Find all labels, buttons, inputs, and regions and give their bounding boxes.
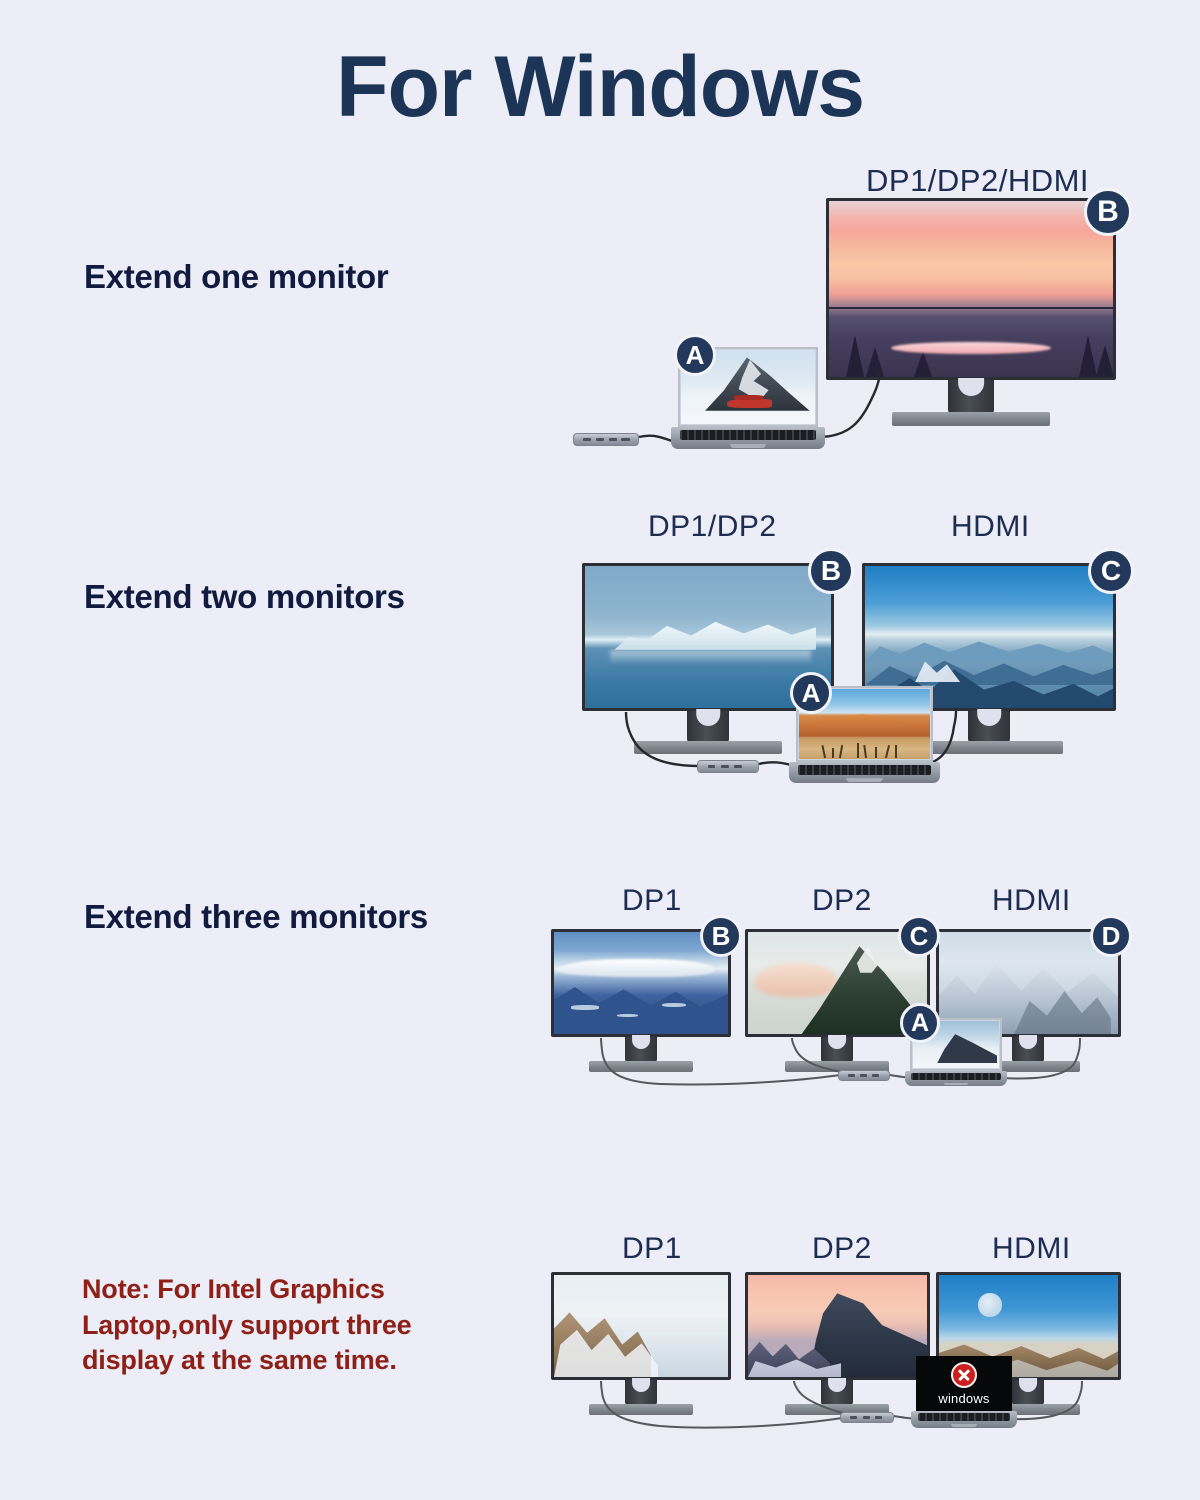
laptop-trackpad-notch [730,444,767,448]
badge-b-section-two: B [808,548,854,594]
badge-b-section-three: B [700,915,742,957]
wallpaper-glacier-valley [554,1275,728,1377]
laptop-deck [911,1411,1017,1428]
monitor-screen [554,1275,728,1377]
monitor-screen [748,1275,927,1377]
wallpaper-pink-sunrise-peak [748,1275,927,1377]
badge-c-section-two: C [1088,548,1134,594]
port-label-hdmi-section-four: HDMI [992,1232,1071,1266]
laptop-keyboard [798,765,931,775]
moon-icon [978,1293,1001,1316]
monitor-neck [625,1037,657,1063]
laptop-lid: windows [916,1356,1012,1411]
laptop-deck [789,762,940,783]
wallpaper-snow-ridge [554,932,728,1034]
monitor-bezel [826,198,1116,380]
monitor-neck [687,711,729,743]
usb-hub-section-two [697,760,759,773]
port-label-dp1-dp2: DP1/DP2 [648,510,777,544]
port-label-dp1-section-four: DP1 [622,1232,682,1266]
monitor-screen [554,932,728,1034]
monitor-bezel [551,1272,731,1380]
badge-a-section-three: A [900,1003,940,1043]
laptop-screen: windows [919,1359,1009,1408]
monitor-base [915,741,1063,754]
badge-a-section-one: A [674,334,716,376]
section-label-extend-two: Extend two monitors [84,578,405,616]
usb-hub-section-one [573,433,639,446]
monitor-base [634,741,782,754]
laptop-trackpad-notch [944,1083,968,1085]
section-label-extend-one: Extend one monitor [84,258,388,296]
badge-c-section-three: C [898,915,940,957]
laptop-deck [905,1071,1006,1086]
laptop-keyboard [911,1073,1000,1080]
wallpaper-sunset-lake [829,201,1113,377]
monitor-base [892,412,1050,426]
laptop-error-section-four: windows [916,1356,1012,1428]
monitor-neck [821,1380,853,1406]
port-label-hdmi-section-three: HDMI [992,884,1071,918]
error-label: windows [938,1391,989,1406]
error-screen: windows [919,1359,1009,1408]
monitor-neck [1012,1037,1044,1063]
monitor-neck [1012,1380,1044,1406]
port-label-dp1-dp2-hdmi: DP1/DP2/HDMI [866,163,1089,199]
laptop-trackpad-notch [846,778,882,781]
monitor-base [589,1404,693,1415]
monitor-b-section-one [826,198,1116,380]
monitor-dp1-section-four [551,1272,731,1380]
monitor-dp2-section-four [745,1272,930,1380]
wallpaper-grass [802,737,928,758]
page-title: For Windows [0,44,1200,130]
usb-hub-section-three [838,1070,890,1081]
section-label-extend-three: Extend three monitors [84,898,428,936]
usb-hub-section-four [840,1412,894,1423]
monitor-neck [821,1037,853,1063]
port-label-dp2-section-four: DP2 [812,1232,872,1266]
laptop-trackpad-notch [951,1424,976,1427]
port-label-dp1-section-three: DP1 [622,884,682,918]
laptop-keyboard [680,430,816,441]
intel-graphics-note: Note: For Intel Graphics Laptop,only sup… [82,1272,482,1379]
port-label-hdmi-section-two: HDMI [951,510,1030,544]
badge-d-section-three: D [1090,915,1132,957]
wallpaper-trees [829,317,1113,377]
port-label-dp2-section-three: DP2 [812,884,872,918]
monitor-bezel [745,1272,930,1380]
monitor-neck [968,711,1010,743]
error-x-icon [951,1362,977,1388]
monitor-base [589,1061,693,1072]
badge-a-section-two: A [790,672,832,714]
monitor-neck [948,380,994,414]
monitor-neck [625,1380,657,1406]
laptop-keyboard [918,1413,1011,1421]
badge-b-section-one: B [1084,188,1132,236]
monitor-screen [829,201,1113,377]
laptop-deck [671,427,825,449]
